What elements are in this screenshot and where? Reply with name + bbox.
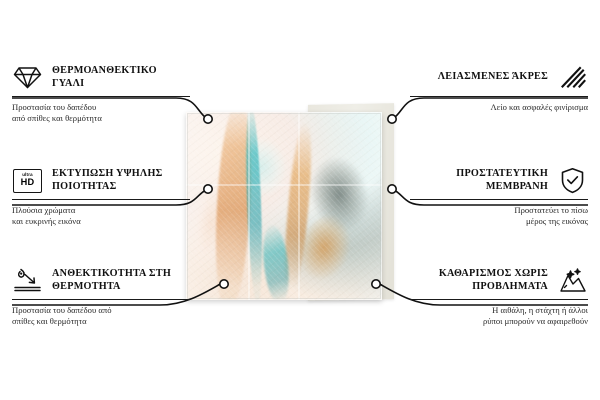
- easy-clean-sparkle-icon: [557, 267, 588, 294]
- feature-heat-resistant-glass: ΘΕΡΜΟΑΝΘΕΚΤΙΚΟ ΓΥΑΛΙ Προστασία του δαπέδ…: [12, 64, 190, 124]
- feature-title: ΑΝΘΕΚΤΙΚΟΤΗΤΑ ΣΤΗ ΘΕΡΜΟΤΗΤΑ: [52, 268, 190, 293]
- divider: [410, 96, 588, 97]
- shield-check-icon: [557, 167, 588, 194]
- infographic-stage: ΘΕΡΜΟΑΝΘΕΚΤΙΚΟ ΓΥΑΛΙ Προστασία του δαπέδ…: [0, 0, 600, 400]
- ultra-hd-icon: ultra HD: [12, 167, 43, 194]
- feature-body: Προστασία του δαπέδου από σπίθες και θερ…: [12, 305, 190, 327]
- divider: [12, 199, 190, 200]
- feature-body: Προστατεύει το πίσω μέρος της εικόνας: [410, 205, 588, 227]
- ultra-hd-large-label: HD: [21, 178, 35, 187]
- feature-heat-resistance: ΑΝΘΕΚΤΙΚΟΤΗΤΑ ΣΤΗ ΘΕΡΜΟΤΗΤΑ Προστασία το…: [12, 267, 190, 327]
- feature-body: Προστασία του δαπέδου από σπίθες και θερ…: [12, 102, 190, 124]
- divider: [12, 96, 190, 97]
- feature-protective-film: ΠΡΟΣΤΑΤΕΥΤΙΚΗ ΜΕΜΒΡΑΝΗ Προστατεύει το πί…: [410, 167, 588, 227]
- divider: [12, 299, 190, 300]
- feature-title: ΕΚΤΥΠΩΣΗ ΥΨΗΛΗΣ ΠΟΙΟΤΗΤΑΣ: [52, 168, 190, 193]
- feature-easy-cleaning: ΚΑΘΑΡΙΣΜΟΣ ΧΩΡΙΣ ΠΡΟΒΛΗΜΑΤΑ Η αιθάλη, η …: [410, 267, 588, 327]
- feature-body: Η αιθάλη, η στάχτη ή άλλοι ρύποι μπορούν…: [410, 305, 588, 327]
- feature-body: Λείο και ασφαλές φινίρισμα: [410, 102, 588, 113]
- feature-polished-edges: ΛΕΙΑΣΜΕΝΕΣ ΆΚΡΕΣ Λείο και ασφαλές φινίρι…: [410, 64, 588, 113]
- feature-title: ΘΕΡΜΟΑΝΘΕΚΤΙΚΟ ΓΥΑΛΙ: [52, 65, 190, 90]
- feature-title: ΠΡΟΣΤΑΤΕΥΤΙΚΗ ΜΕΜΒΡΑΝΗ: [410, 168, 548, 193]
- polished-edges-icon: [557, 64, 588, 91]
- feature-body: Πλούσια χρώματα και ευκρινής εικόνα: [12, 205, 190, 227]
- flame-heat-resistance-icon: [12, 267, 43, 294]
- feature-high-quality-print: ultra HD ΕΚΤΥΠΩΣΗ ΥΨΗΛΗΣ ΠΟΙΟΤΗΤΑΣ Πλούσ…: [12, 167, 190, 227]
- glass-panel: [186, 112, 382, 300]
- feature-title: ΛΕΙΑΣΜΕΝΕΣ ΆΚΡΕΣ: [410, 71, 548, 84]
- diamond-icon: [12, 64, 43, 91]
- divider: [410, 299, 588, 300]
- divider: [410, 199, 588, 200]
- product-image: [186, 108, 414, 303]
- feature-title: ΚΑΘΑΡΙΣΜΟΣ ΧΩΡΙΣ ΠΡΟΒΛΗΜΑΤΑ: [410, 268, 548, 293]
- abstract-marble-artwork: [186, 112, 382, 300]
